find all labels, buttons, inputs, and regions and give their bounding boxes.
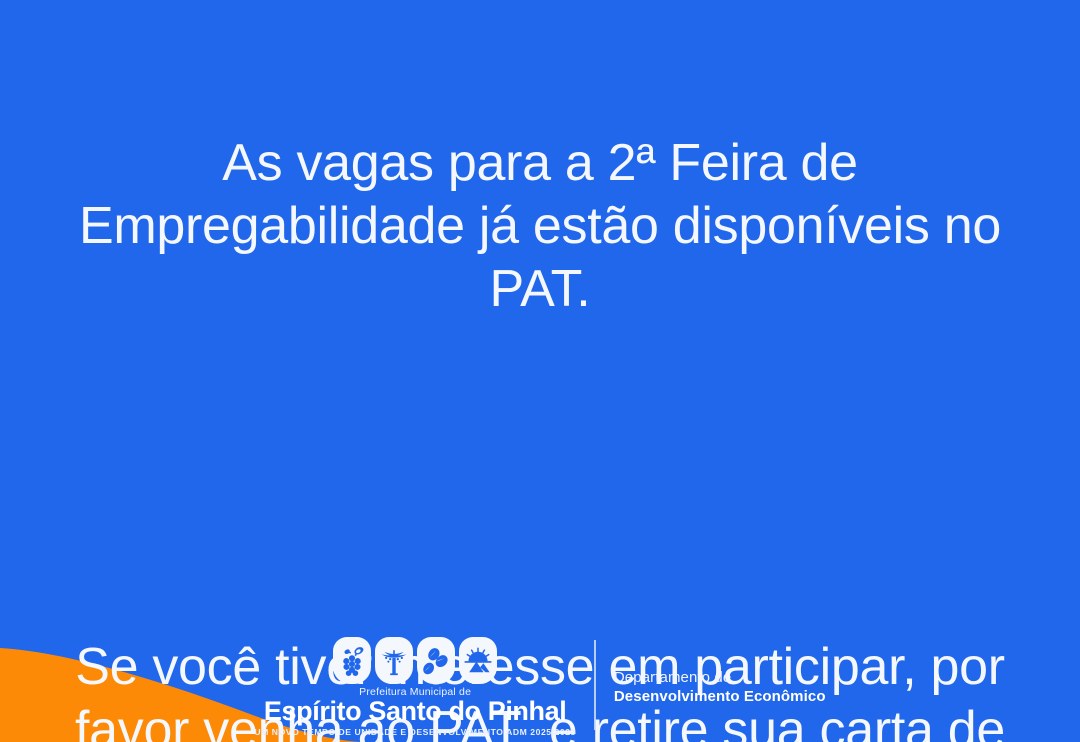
sunrise-mountain-icon [463,646,493,676]
crest-tree [375,637,413,684]
brand-tagline: UM NOVO TEMPO DE UNIDADE E DESENVOLVIMEN… [254,727,575,737]
tree-icon [379,646,409,676]
crest-sunrise-mountain [459,637,497,684]
city-hall-logo: Prefeitura Municipal de Espírito Santo d… [254,632,575,737]
announcement-paragraph-1: As vagas para a 2ª Feira de Empregabilid… [36,132,1044,321]
department-line-1: Departamento de [614,668,826,687]
coffee-beans-icon [422,646,450,676]
crest-grapes [333,637,371,684]
footer-divider [594,640,596,730]
brand-name: Espírito Santo do Pinhal [264,697,566,725]
poster-canvas: As vagas para a 2ª Feira de Empregabilid… [0,0,1080,742]
crest-row [333,637,497,684]
crest-coffee-beans [417,637,455,684]
footer: Prefeitura Municipal de Espírito Santo d… [0,632,1080,736]
department-block: Departamento de Desenvolvimento Econômic… [614,662,826,706]
grapes-icon [339,645,365,677]
department-line-2: Desenvolvimento Econômico [614,687,826,706]
paragraph-gap [36,447,1044,510]
